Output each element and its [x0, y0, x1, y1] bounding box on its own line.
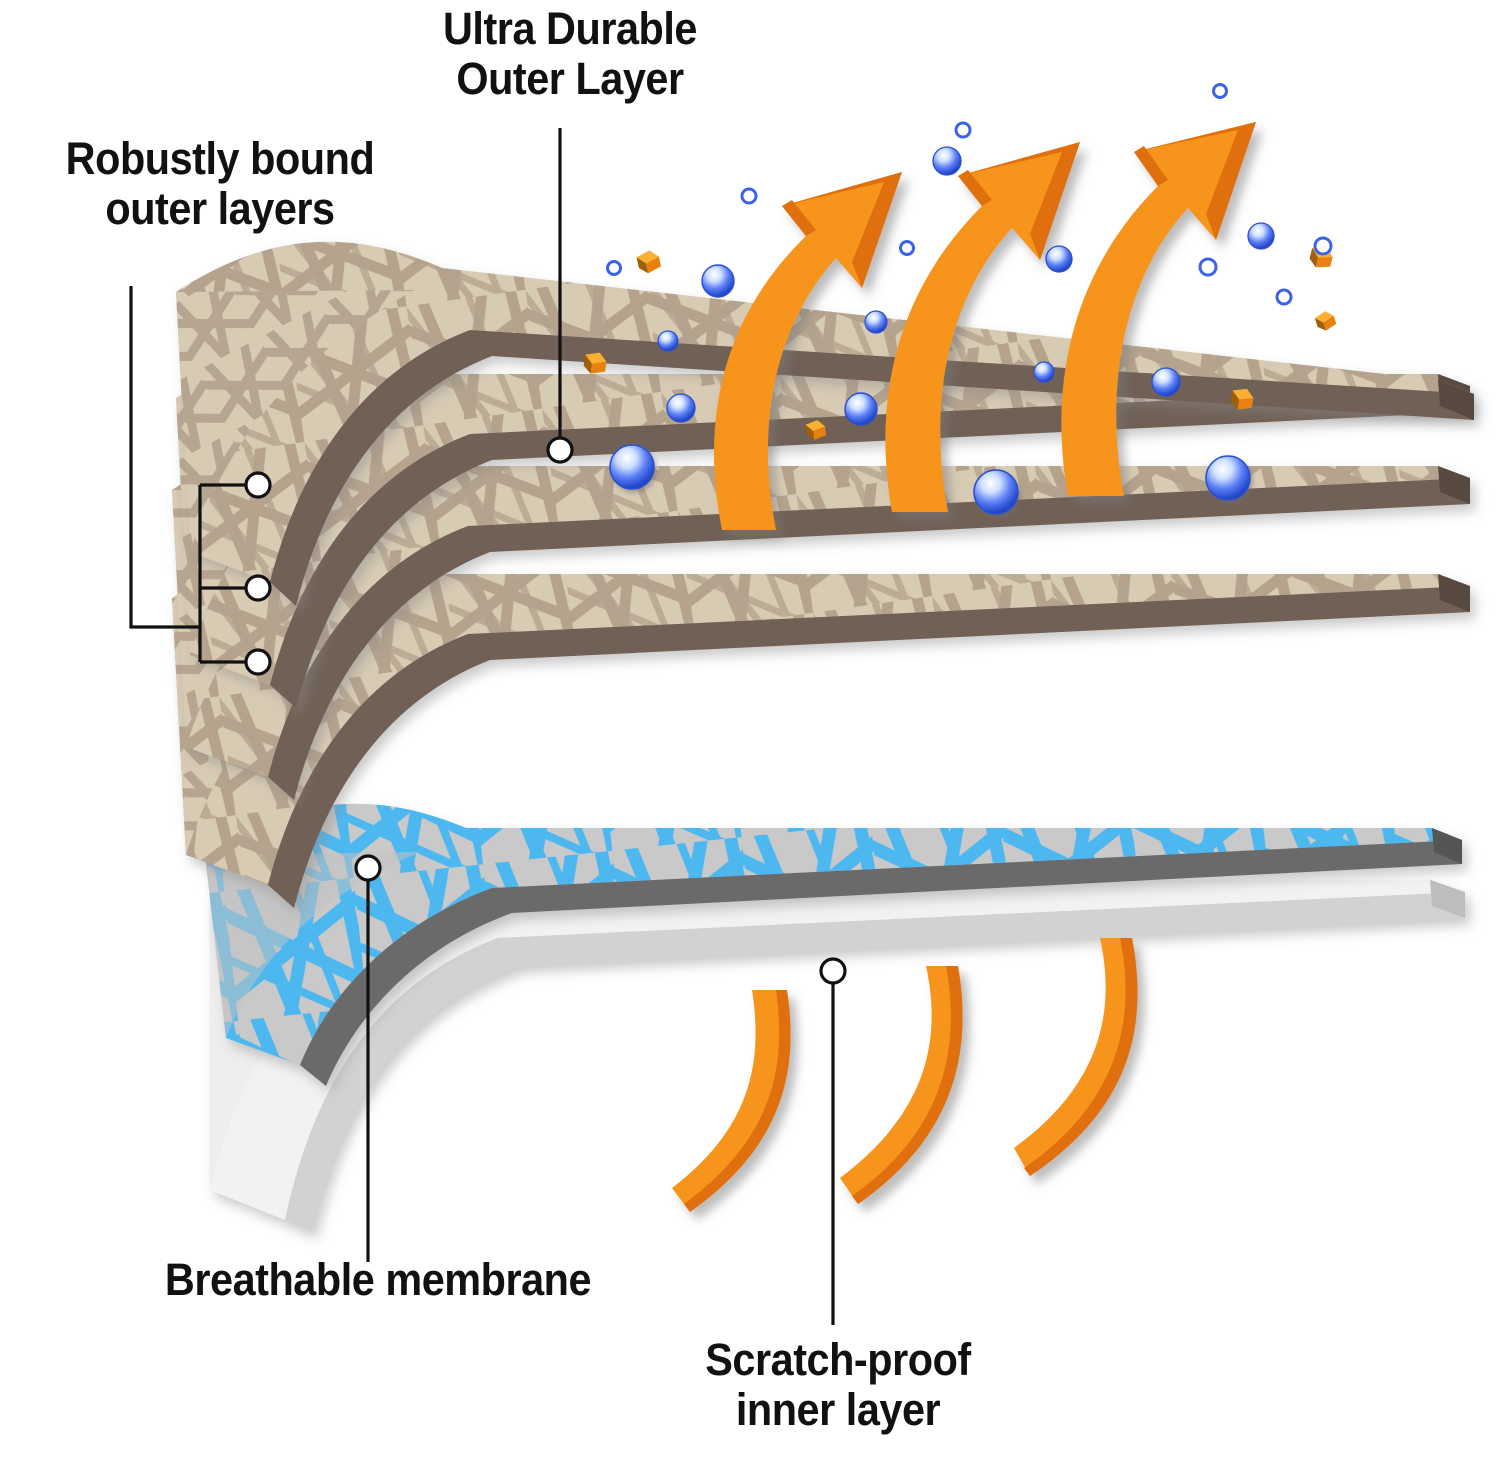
- droplet: [1248, 223, 1274, 249]
- droplet: [702, 265, 734, 297]
- droplet-ring: [742, 189, 756, 203]
- droplet: [845, 393, 877, 425]
- droplet: [865, 311, 887, 333]
- droplet: [933, 147, 961, 175]
- label-ultra-durable-outer-layer: Ultra Durable Outer Layer: [386, 4, 754, 105]
- droplet-ring: [1214, 85, 1227, 98]
- droplet: [1046, 246, 1072, 272]
- droplet-ring: [1277, 290, 1291, 304]
- droplet-ring: [1200, 259, 1216, 275]
- droplet: [610, 445, 654, 489]
- droplet: [1206, 456, 1250, 500]
- droplet-ring: [608, 262, 621, 275]
- droplet: [974, 470, 1018, 514]
- label-robustly-bound-outer-layers: Robustly bound outer layers: [18, 134, 423, 235]
- label-scratch-proof-inner-layer: Scratch-proof inner layer: [626, 1335, 1049, 1436]
- droplet-ring: [1315, 238, 1331, 254]
- droplet: [1152, 368, 1180, 396]
- label-breathable-membrane: Breathable membrane: [84, 1255, 673, 1305]
- droplet-ring: [956, 123, 970, 137]
- droplet: [658, 331, 678, 351]
- droplet: [667, 394, 695, 422]
- droplet: [1034, 362, 1054, 382]
- droplet-ring: [901, 242, 914, 255]
